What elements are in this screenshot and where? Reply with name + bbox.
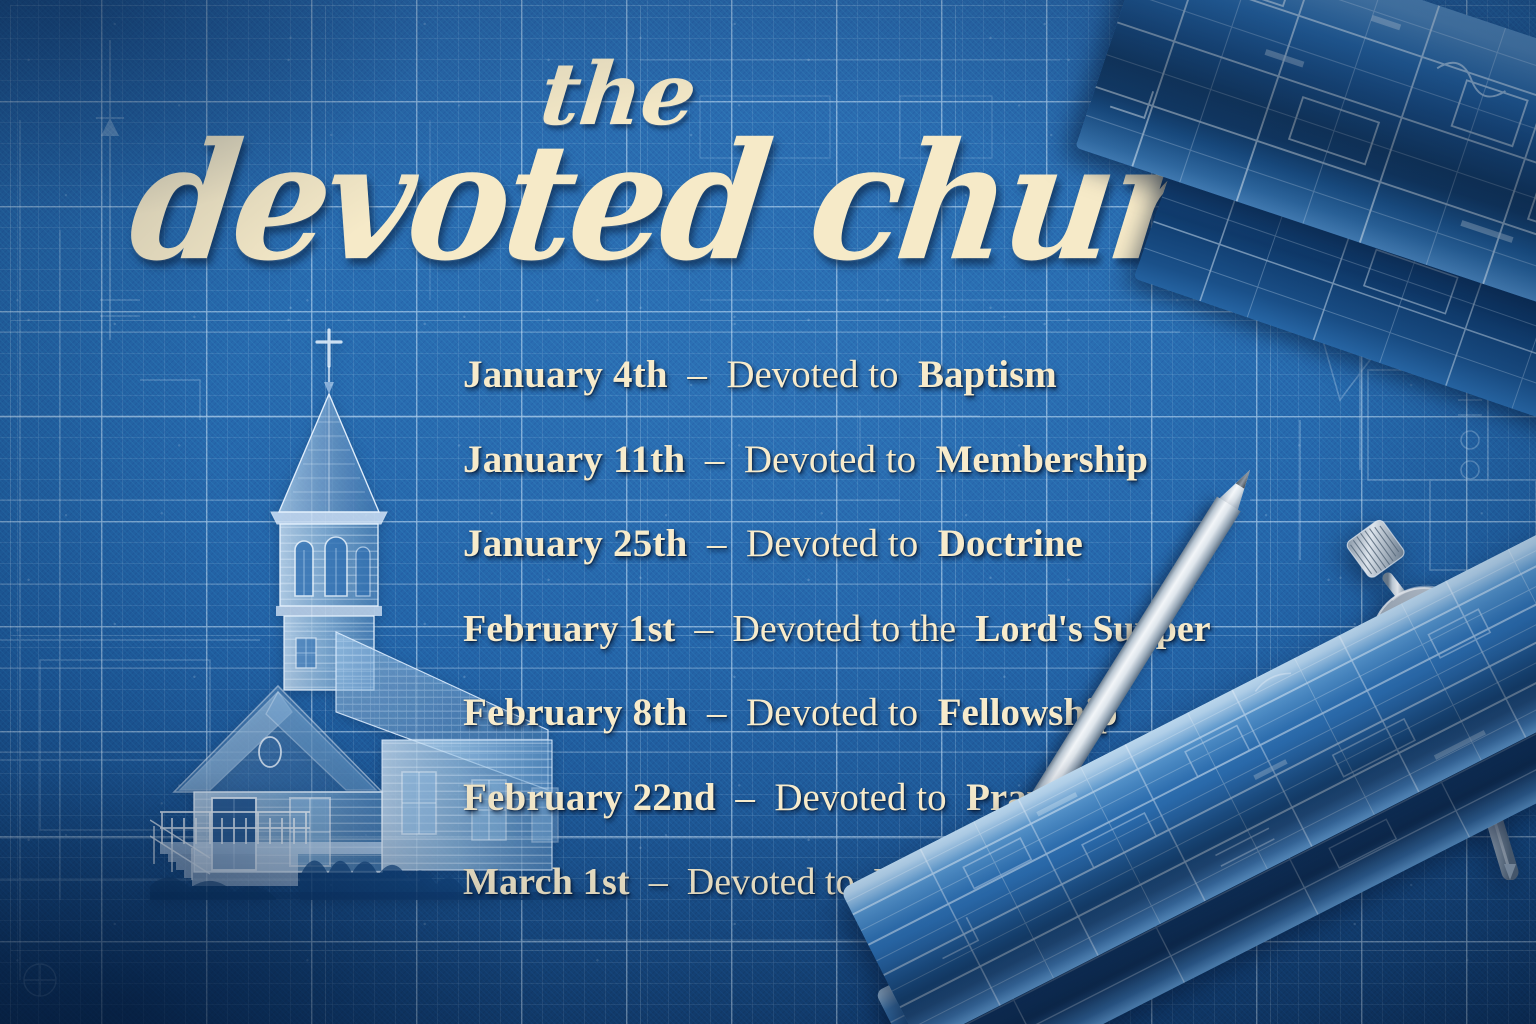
schedule-date: February 8th (463, 691, 687, 734)
schedule-date: January 11th (463, 438, 685, 481)
schedule-middle: Devoted to the (732, 608, 956, 650)
schedule-middle: Devoted to (687, 861, 855, 903)
schedule-separator: – (694, 608, 713, 650)
schedule-date: January 25th (463, 522, 688, 565)
devoted-church-graphic: the devoted church January 4th – Devoted… (0, 0, 1536, 1024)
schedule-topic: Doctrine (938, 522, 1083, 565)
schedule-separator: – (735, 776, 755, 819)
schedule-topic: Baptism (918, 353, 1057, 396)
schedule-middle: Devoted to (744, 438, 916, 481)
schedule-middle: Devoted to (746, 522, 918, 565)
schedule-date: March 1st (463, 861, 630, 903)
schedule-separator: – (687, 353, 707, 396)
schedule-separator: – (707, 691, 727, 734)
schedule-middle: Devoted to (746, 691, 918, 734)
schedule-middle: Devoted to (726, 353, 898, 396)
schedule-date: January 4th (463, 353, 668, 396)
schedule-date: February 1st (463, 608, 675, 650)
schedule-separator: – (705, 438, 725, 481)
schedule-item-1: January 4th – Devoted to Baptism (463, 344, 1323, 429)
schedule-middle: Devoted to (774, 776, 946, 819)
schedule-item-2: January 11th – Devoted to Membership (463, 429, 1323, 514)
schedule-item-4: February 1st – Devoted to the Lord's Sup… (463, 598, 1323, 683)
schedule-topic: Membership (936, 438, 1148, 481)
schedule-separator: – (649, 861, 668, 903)
schedule-date: February 22nd (463, 776, 716, 819)
schedule-separator: – (707, 522, 727, 565)
